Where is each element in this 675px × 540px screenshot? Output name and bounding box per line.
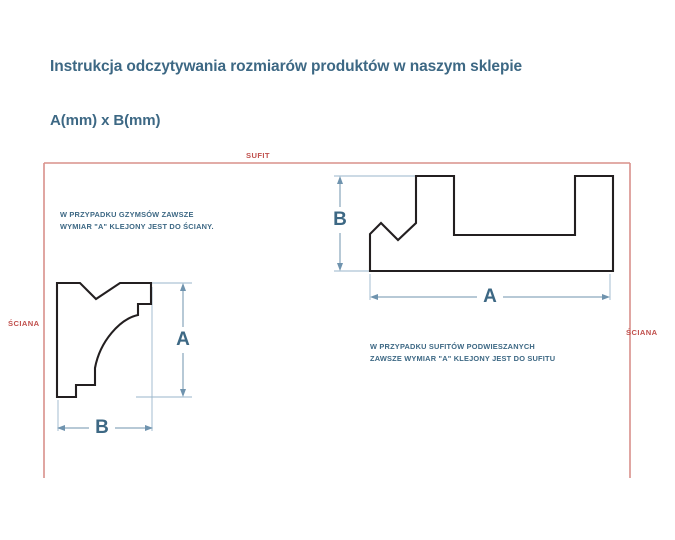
suspended-ceiling-note: W PRZYPADKU SUFITÓW PODWIESZANYCH ZAWSZE…: [370, 341, 555, 365]
cornice-dim-b-arrow-left: [57, 425, 65, 431]
page-title: Instrukcja odczytywania rozmiarów produk…: [50, 58, 522, 76]
cornice-diagram-svg: A B: [0, 0, 675, 540]
cornice-dim-a-arrow-bottom: [180, 389, 186, 397]
ceiling-label: SUFIT: [246, 151, 270, 160]
cornice-dim-a-arrow-top: [180, 283, 186, 291]
diagram-page: Instrukcja odczytywania rozmiarów produk…: [0, 0, 675, 540]
sc-dim-a-arrow-left: [370, 294, 378, 300]
suspended-ceiling-note-line1: W PRZYPADKU SUFITÓW PODWIESZANYCH: [370, 341, 555, 353]
cornice-note-line1: W PRZYPADKU GZYMSÓW ZAWSZE: [60, 209, 214, 221]
page-subtitle: A(mm) x B(mm): [50, 112, 160, 129]
cornice-dim-b-label: B: [95, 417, 109, 438]
cornice-dim-b-arrow-right: [145, 425, 153, 431]
suspended-ceiling-profile-outline: [370, 176, 613, 271]
room-frame-svg: [0, 0, 675, 540]
sc-dim-a-label: A: [483, 286, 497, 307]
suspended-ceiling-diagram-svg: B A: [0, 0, 675, 540]
sc-dim-a-arrow-right: [602, 294, 610, 300]
sc-dim-b-arrow-bottom: [337, 263, 343, 271]
wall-label-right: ŚCIANA: [626, 328, 658, 337]
sc-dim-b-arrow-top: [337, 176, 343, 184]
wall-label-left: ŚCIANA: [8, 319, 40, 328]
cornice-dim-a-label: A: [176, 329, 190, 350]
sc-dim-b-label: B: [333, 209, 347, 230]
cornice-profile-outline: [57, 283, 151, 397]
cornice-note-line2: WYMIAR "A" KLEJONY JEST DO ŚCIANY.: [60, 221, 214, 233]
cornice-note: W PRZYPADKU GZYMSÓW ZAWSZE WYMIAR "A" KL…: [60, 209, 214, 233]
suspended-ceiling-note-line2: ZAWSZE WYMIAR "A" KLEJONY JEST DO SUFITU: [370, 353, 555, 365]
